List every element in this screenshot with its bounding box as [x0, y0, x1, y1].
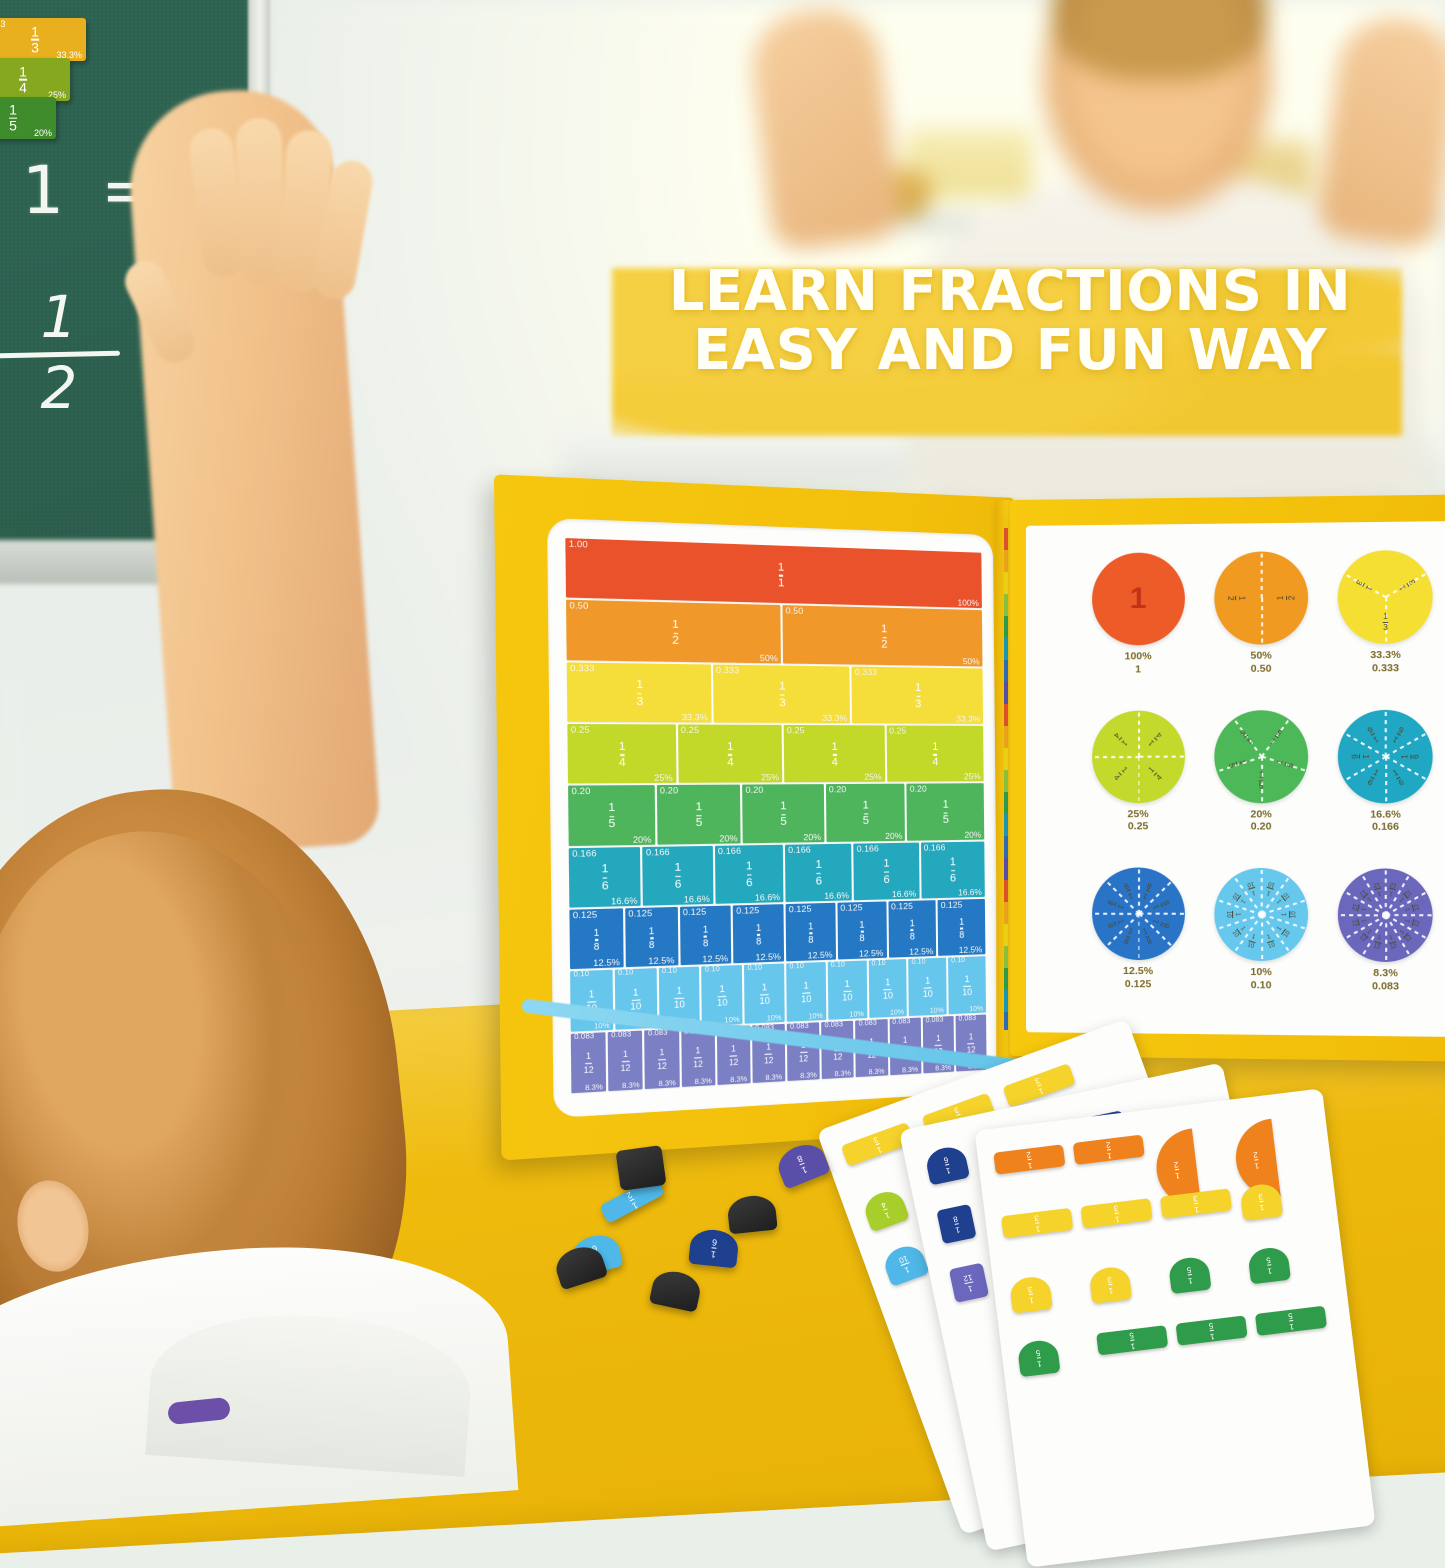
chart-cell[interactable]: 0.3331333.3% [713, 664, 851, 723]
pie-caption-decimal: 0.333 [1370, 662, 1401, 675]
cell-percent: 33.3% [682, 712, 708, 723]
cell-decimal: 0.083 [574, 1032, 594, 1040]
foam-piece[interactable]: 13 [1088, 1265, 1132, 1304]
pie-caption-decimal: 0.20 [1250, 821, 1271, 834]
right-panel-cover[interactable]: 1100%1121250%0.5013131333.3%0.3331414141… [1010, 494, 1445, 1061]
cell-fraction: 16 [602, 864, 609, 892]
pie-slice-label: 15 [1268, 727, 1283, 745]
pie-divider [1386, 732, 1428, 757]
pie-slice-label: 13 [1398, 577, 1417, 591]
pie-disc[interactable]: 112112112112112112112112112112112112 [1338, 869, 1433, 963]
cell-percent: 8.3% [730, 1076, 747, 1084]
cell-percent: 25% [761, 772, 779, 783]
cell-fraction: 110 [842, 979, 853, 1002]
cell-decimal: 0.125 [573, 909, 598, 920]
cell-percent: 25% [964, 771, 981, 781]
pie-caption: 20%0.20 [1250, 808, 1271, 834]
fraction-circle-5[interactable]: 151515151520%0.20 [1200, 710, 1322, 867]
cell-percent: 12.5% [755, 951, 781, 962]
cell-fraction: 110 [630, 988, 641, 1012]
cell-decimal: 0.10 [789, 963, 804, 971]
cell-fraction: 16 [883, 859, 889, 886]
pie-caption-percent: 8.3% [1372, 967, 1399, 980]
cell-decimal: 0.10 [618, 969, 634, 977]
cell-fraction: 14 [831, 741, 838, 768]
chart-cell[interactable]: 0.1251812.5% [938, 899, 986, 956]
pie-slice-label: 15 [1239, 727, 1254, 745]
foam-piece-label: 13 [1034, 1213, 1041, 1232]
foam-piece[interactable]: 12 [993, 1144, 1065, 1174]
chart-cell[interactable]: 0.3331333.3% [852, 666, 983, 724]
cell-percent: 12.5% [702, 953, 728, 964]
cell-percent: 33.3% [956, 714, 980, 724]
cell-decimal: 0.166 [924, 842, 946, 853]
pie-divider [1339, 914, 1386, 916]
foam-sheet-right[interactable]: 12121212131313131313151515151515 [974, 1088, 1375, 1567]
cell-percent: 10% [808, 1012, 823, 1020]
cell-fraction: 110 [883, 978, 893, 1001]
pie-slice-label: 14 [1112, 766, 1129, 783]
pie-slice-label: 14 [1147, 766, 1164, 783]
cell-decimal: 0.10 [747, 965, 762, 973]
loose-piece-label: 16 [710, 1237, 717, 1258]
pie-caption-percent: 10% [1250, 966, 1271, 979]
foam-piece-label: 12 [1026, 1150, 1033, 1169]
cell-percent: 8.3% [868, 1068, 884, 1076]
cell-percent: 10% [969, 1005, 983, 1013]
pie-caption-percent: 12.5% [1123, 965, 1153, 978]
pie-slice-label: 12 [1226, 596, 1245, 601]
pie-caption-percent: 50% [1250, 650, 1271, 663]
cell-decimal: 0.166 [572, 847, 597, 858]
foam-piece-label: 110 [898, 1254, 913, 1275]
pie-disc[interactable]: 1 [1092, 552, 1185, 645]
pie-disc[interactable]: 1515151515 [1214, 710, 1308, 803]
foam-piece[interactable]: 13 [1009, 1275, 1053, 1314]
cell-fraction: 15 [695, 802, 702, 830]
foam-piece[interactable]: 110 [881, 1241, 930, 1287]
cell-percent: 16.6% [684, 893, 710, 904]
chart-cell[interactable]: 0.251425% [784, 725, 885, 783]
cell-percent: 100% [957, 598, 978, 609]
cell-decimal: 0.083 [859, 1019, 877, 1027]
pie-divider [1385, 710, 1387, 757]
pie-caption-percent: 100% [1125, 650, 1152, 663]
cell-percent: 50% [963, 656, 980, 666]
foam-piece[interactable]: 15 [1096, 1325, 1168, 1355]
pie-caption-decimal: 0.166 [1370, 821, 1401, 834]
product-photo-scene: 1 = ? 1 2 0.33 13 33.3% 0.25 14 25% 0.20… [0, 0, 1445, 1445]
chart-cell[interactable]: 0.1661616.6% [785, 843, 852, 902]
foam-piece-label: 13 [1107, 1275, 1114, 1294]
chart-cell[interactable]: 0.251425% [567, 724, 676, 784]
pie-disc[interactable]: 110110110110110110110110110110 [1214, 868, 1308, 962]
cell-decimal: 0.166 [718, 845, 741, 856]
foam-piece[interactable]: 16 [924, 1144, 970, 1186]
cell-percent: 16.6% [958, 887, 982, 898]
pie-slice-label: 16 [1366, 769, 1380, 788]
cell-fraction: 112 [657, 1049, 667, 1071]
cell-decimal: 0.25 [571, 724, 590, 735]
cell-decimal: 0.10 [951, 957, 965, 965]
cell-decimal: 0.083 [790, 1022, 809, 1030]
cell-decimal: 0.10 [705, 966, 720, 974]
pie-disc[interactable]: 1212 [1214, 551, 1308, 645]
foam-piece[interactable]: 18 [936, 1204, 976, 1244]
cell-fraction: 112 [693, 1047, 703, 1069]
cell-percent: 25% [864, 772, 881, 782]
foam-piece-label: 12 [1173, 1160, 1180, 1179]
pie-slice-label: 13 [1383, 613, 1388, 632]
cell-fraction: 110 [674, 986, 685, 1010]
foam-piece-label: 15 [1266, 1255, 1273, 1274]
pie-slice-label: 14 [1147, 730, 1164, 747]
cell-percent: 10% [930, 1007, 944, 1015]
cell-decimal: 0.10 [831, 962, 846, 970]
cell-decimal: 0.166 [646, 846, 670, 857]
pie-slice-label: 110 [1264, 880, 1275, 897]
chart-cell[interactable]: 0.1011010% [744, 964, 784, 1023]
pie-caption-decimal: 0.25 [1127, 821, 1148, 834]
pie-caption: 25%0.25 [1127, 808, 1148, 834]
chart-cell[interactable]: 0.0831128.3% [645, 1028, 680, 1089]
pie-divider [1093, 756, 1139, 758]
pie-divider [1261, 915, 1263, 962]
pie-divider [1261, 552, 1263, 599]
cell-fraction: 14 [619, 741, 626, 769]
cell-decimal: 0.083 [926, 1016, 944, 1024]
foam-piece-label: 12 [1105, 1140, 1112, 1159]
chart-cell[interactable]: 0.1251812.5% [625, 907, 678, 968]
foam-piece[interactable]: 112 [949, 1263, 989, 1303]
cell-percent: 12.5% [909, 946, 933, 957]
cell-decimal: 0.083 [892, 1018, 910, 1026]
cell-fraction: 18 [808, 922, 813, 945]
cell-decimal: 0.166 [788, 844, 811, 855]
pie-slice-label: 110 [1264, 933, 1275, 950]
chart-cell[interactable]: 0.201520% [907, 784, 984, 841]
chart-cell[interactable]: 0.1251812.5% [837, 901, 886, 959]
chart-cell[interactable]: 0.201520% [656, 785, 740, 844]
foam-piece-label: 15 [1129, 1331, 1136, 1350]
chart-cell[interactable]: 0.0831128.3% [571, 1032, 607, 1093]
foam-piece-label: 15 [1186, 1265, 1193, 1284]
pie-slice-label: 15 [1227, 759, 1247, 769]
fraction-circle-3[interactable]: 13131333.3%0.333 [1324, 550, 1445, 708]
cell-percent: 8.3% [658, 1080, 675, 1088]
cell-percent: 10% [849, 1011, 863, 1019]
chart-cell[interactable]: 0.1011010% [868, 959, 907, 1017]
foam-piece-label: 15 [1288, 1311, 1295, 1330]
cell-fraction: 18 [756, 923, 762, 947]
pie-divider [1261, 598, 1263, 645]
headline: LEARN FRACTIONS IN EASY AND FUN WAY [600, 262, 1420, 381]
cell-percent: 25% [654, 773, 673, 784]
foam-piece[interactable]: 15 [1017, 1339, 1061, 1378]
cell-fraction: 110 [962, 975, 972, 998]
fraction-circle-12[interactable]: 1121121121121121121121121121121121128.3%… [1324, 869, 1445, 1027]
cell-percent: 8.3% [765, 1074, 782, 1082]
pie-slice-label: 110 [1247, 933, 1258, 950]
cell-fraction: 15 [863, 800, 870, 827]
cell-percent: 16.6% [755, 892, 781, 903]
chart-cell[interactable]: 0.1011010% [909, 958, 947, 1016]
headline-line-2: EASY AND FUN WAY [600, 321, 1420, 380]
chart-cell[interactable]: 0.1011010% [702, 965, 743, 1025]
cell-fraction: 112 [729, 1045, 739, 1067]
cell-decimal: 0.25 [681, 724, 699, 735]
cell-percent: 12.5% [593, 957, 620, 969]
cell-decimal: 0.125 [683, 906, 707, 917]
pie-caption-percent: 25% [1127, 808, 1148, 821]
chart-cell[interactable]: 0.1251812.5% [786, 903, 836, 962]
cell-fraction: 18 [959, 917, 964, 940]
cell-fraction: 110 [717, 984, 728, 1008]
chart-cell[interactable]: 0.1661616.6% [921, 841, 985, 898]
cell-fraction: 12 [881, 624, 887, 651]
cell-percent: 50% [760, 652, 778, 663]
pie-divider [1385, 756, 1387, 803]
cell-decimal: 0.125 [789, 903, 812, 914]
cell-percent: 16.6% [892, 888, 916, 899]
cell-fraction: 14 [932, 741, 938, 768]
cell-fraction: 15 [608, 802, 615, 830]
pie-caption: 8.3%0.083 [1372, 967, 1399, 993]
cell-percent: 20% [719, 833, 737, 844]
cell-fraction: 12 [672, 619, 679, 647]
pie-slice-label: 18 [1123, 927, 1134, 946]
foam-piece-label: 13 [1258, 1192, 1265, 1211]
foam-piece[interactable]: 15 [1255, 1306, 1327, 1336]
loose-piece-label: 12 [625, 1190, 639, 1211]
cell-decimal: 1.00 [569, 538, 588, 549]
chart-cell[interactable]: 0.201520% [826, 784, 906, 842]
pie-slice-label: 112 [1405, 903, 1422, 913]
foam-piece-label: 12 [1253, 1150, 1260, 1169]
fraction-circle-1[interactable]: 1100%1 [1078, 552, 1198, 708]
chart-cell[interactable]: 0.1251812.5% [679, 905, 731, 965]
pie-slice-label: 14 [1112, 731, 1129, 748]
pie-caption: 10%0.10 [1250, 966, 1271, 992]
pie-disc[interactable]: 1818181818181818 [1092, 868, 1185, 961]
foam-piece[interactable]: 15 [1168, 1256, 1212, 1295]
chart-cell[interactable]: 0.3331333.3% [567, 662, 711, 722]
cell-fraction: 13 [915, 683, 921, 710]
cell-fraction: 16 [950, 857, 956, 884]
chart-cell[interactable]: 0.1661616.6% [854, 842, 920, 900]
cell-decimal: 0.083 [824, 1021, 843, 1029]
foam-piece[interactable]: 13 [1081, 1198, 1153, 1228]
cell-fraction: 18 [703, 925, 709, 949]
fraction-circle-4[interactable]: 1414141425%0.25 [1078, 710, 1198, 866]
cell-fraction: 112 [620, 1051, 630, 1073]
chart-cell[interactable]: 0.0831128.3% [681, 1027, 715, 1087]
cell-fraction: 13 [779, 681, 786, 709]
pie-caption: 12.5%0.125 [1123, 965, 1153, 991]
chart-cell[interactable]: 0.501250% [566, 600, 781, 663]
pie-slice-label: 12 [1277, 596, 1296, 601]
pie-caption-percent: 20% [1250, 808, 1271, 821]
pie-slice-label: 18 [1105, 899, 1124, 911]
cell-fraction: 16 [746, 861, 753, 889]
cell-decimal: 0.25 [787, 725, 805, 735]
foam-piece-label: 18 [952, 1214, 960, 1234]
chart-cell[interactable]: 0.1251812.5% [569, 908, 623, 969]
chart-cell[interactable]: 1.0011100% [565, 538, 982, 608]
chart-cell[interactable]: 0.251425% [886, 725, 984, 782]
pie-disc[interactable]: 161616161616 [1338, 709, 1433, 803]
cell-fraction: 18 [649, 926, 655, 950]
pie-caption-decimal: 0.083 [1372, 980, 1399, 993]
cell-fraction: 18 [859, 920, 864, 943]
loose-piece-magnet-back[interactable] [615, 1145, 666, 1191]
pie-divider [1139, 913, 1186, 915]
pie-divider [1138, 710, 1140, 756]
cell-fraction: 16 [815, 860, 822, 887]
pie-divider [1138, 757, 1140, 803]
headline-line-1: LEARN FRACTIONS IN [669, 259, 1352, 324]
cell-decimal: 0.166 [857, 843, 879, 854]
pie-divider [1345, 756, 1387, 781]
cell-percent: 20% [885, 830, 902, 840]
chart-cell[interactable]: 0.501250% [782, 605, 982, 666]
cell-fraction: 14 [727, 741, 734, 769]
pie-divider [1386, 915, 1434, 917]
chart-cell[interactable]: 0.1661616.6% [643, 846, 714, 906]
cell-fraction: 112 [764, 1043, 774, 1065]
cell-fraction: 16 [675, 863, 682, 891]
pie-caption-decimal: 0.125 [1123, 978, 1153, 991]
cell-percent: 12.5% [859, 948, 884, 959]
cell-decimal: 0.20 [829, 784, 847, 794]
chart-cell[interactable]: 0.1011010% [786, 962, 826, 1021]
cell-percent: 12.5% [648, 955, 674, 967]
cell-percent: 16.6% [611, 895, 638, 906]
fraction-chart-page: 1.0011100%0.501250%0.501250%0.3331333.3%… [547, 518, 998, 1118]
cell-percent: 12.5% [808, 950, 833, 961]
cell-percent: 8.3% [695, 1078, 712, 1086]
pie-caption-percent: 16.6% [1370, 808, 1401, 821]
cell-fraction: 112 [967, 1033, 976, 1054]
chart-row-5: 0.201520%0.201520%0.201520%0.201520%0.20… [568, 784, 984, 846]
foam-piece[interactable]: 15 [1247, 1246, 1291, 1285]
cell-decimal: 0.083 [648, 1029, 668, 1037]
foam-piece[interactable]: 14 [861, 1187, 910, 1233]
pie-slice-label: 16 [1391, 769, 1405, 788]
chart-cell[interactable]: 0.201520% [568, 785, 655, 845]
foam-piece-label: 13 [1034, 1076, 1045, 1095]
pie-slice-label: 18 [1142, 928, 1153, 947]
cell-decimal: 0.20 [571, 786, 590, 797]
cell-decimal: 0.50 [569, 600, 588, 611]
cell-decimal: 0.333 [855, 666, 877, 677]
chart-cell[interactable]: 0.201520% [742, 784, 824, 843]
cell-decimal: 0.10 [662, 968, 677, 976]
cell-decimal: 0.125 [840, 902, 862, 913]
foam-piece[interactable]: 12 [1073, 1135, 1145, 1165]
cell-percent: 20% [964, 829, 981, 839]
chart-cell[interactable]: 0.1011010% [828, 961, 867, 1020]
cell-decimal: 0.125 [628, 908, 652, 919]
cell-fraction: 18 [594, 928, 600, 952]
cell-percent: 16.6% [824, 890, 849, 901]
pie-disc[interactable]: 131313 [1338, 550, 1433, 644]
cell-fraction: 110 [759, 983, 770, 1007]
cell-fraction: 13 [636, 680, 643, 708]
pie-center-label: 1 [1130, 582, 1147, 616]
pie-caption: 100%1 [1125, 650, 1152, 676]
fraction-circles-grid: 1100%1121250%0.5013131333.3%0.3331414141… [1078, 550, 1445, 1027]
chart-cell[interactable]: 0.1251812.5% [888, 900, 936, 958]
cell-fraction: 11 [778, 562, 785, 590]
fraction-circle-10[interactable]: 11011011011011011011011011011010%0.10 [1200, 868, 1322, 1025]
pie-slice-label: 16 [1350, 754, 1370, 759]
chart-cell[interactable]: 0.1251812.5% [733, 904, 784, 963]
cell-percent: 10% [594, 1022, 610, 1030]
cell-percent: 33.3% [822, 713, 847, 723]
cell-percent: 12.5% [959, 944, 983, 955]
foam-piece[interactable]: 15 [1176, 1315, 1248, 1345]
cell-decimal: 0.20 [660, 785, 679, 796]
pie-divider [1261, 868, 1263, 915]
pie-slice-label: 18 [1105, 918, 1124, 929]
chart-cell[interactable]: 0.1661616.6% [569, 847, 641, 908]
pie-slice-label: 112 [1373, 934, 1384, 950]
pie-divider [1345, 732, 1387, 757]
pie-slice-label: 13 [1354, 578, 1373, 591]
fraction-circle-6[interactable]: 16161616161616.6%0.166 [1324, 709, 1445, 867]
foam-piece-label: 13 [872, 1135, 883, 1154]
pie-slice-label: 110 [1282, 912, 1297, 919]
chart-row-4: 0.251425%0.251425%0.251425%0.251425% [567, 724, 983, 784]
cell-fraction: 110 [801, 981, 812, 1005]
fraction-circle-2[interactable]: 121250%0.50 [1200, 551, 1322, 708]
foam-piece[interactable]: 13 [1001, 1208, 1073, 1238]
cell-decimal: 0.333 [570, 662, 595, 673]
cell-decimal: 0.25 [889, 725, 906, 735]
chart-row-6: 0.1661616.6%0.1661616.6%0.1661616.6%0.16… [569, 841, 985, 907]
cell-decimal: 0.083 [958, 1015, 976, 1023]
chart-cell[interactable]: 0.251425% [677, 724, 782, 783]
cell-decimal: 0.50 [786, 606, 804, 617]
fraction-circle-8[interactable]: 181818181818181812.5%0.125 [1078, 868, 1198, 1024]
chart-cell[interactable]: 0.1661616.6% [715, 844, 784, 903]
cell-percent: 8.3% [834, 1070, 850, 1078]
pie-divider [1139, 756, 1186, 758]
cell-decimal: 0.20 [910, 784, 927, 794]
chart-cell[interactable]: 0.1011010% [948, 956, 986, 1013]
cell-percent: 20% [803, 831, 821, 842]
pie-slice-label: 110 [1225, 911, 1240, 918]
pie-slice-label: 15 [1275, 759, 1295, 769]
cell-fraction: 15 [943, 799, 949, 826]
pie-slice-label: 16 [1401, 754, 1421, 759]
cell-decimal: 0.125 [941, 899, 963, 910]
cell-decimal: 0.10 [871, 960, 885, 968]
chart-cell[interactable]: 0.0831128.3% [608, 1030, 643, 1091]
chart-row-1: 1.0011100% [565, 538, 982, 608]
pie-slice-label: 18 [1151, 899, 1170, 910]
pie-disc[interactable]: 14141414 [1092, 710, 1185, 803]
pie-slice-label: 112 [1350, 903, 1367, 914]
pie-caption-percent: 33.3% [1370, 649, 1401, 662]
spine-rainbow-left [1004, 528, 1008, 1030]
cell-decimal: 0.20 [745, 785, 763, 796]
pie-slice-label: 15 [1259, 772, 1264, 791]
cell-decimal: 0.125 [891, 901, 913, 912]
cell-decimal: 0.125 [736, 905, 759, 916]
pie-slice-label: 16 [1391, 725, 1405, 744]
